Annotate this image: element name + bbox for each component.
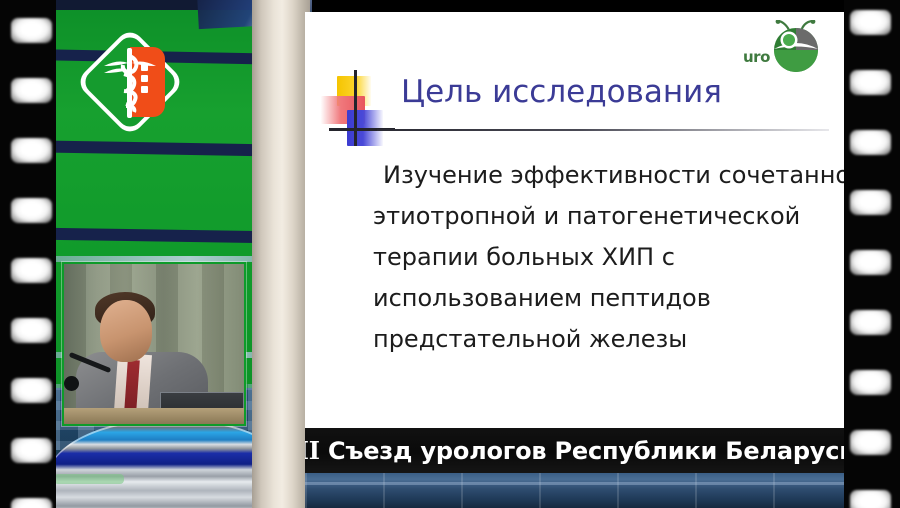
filmstrip-right [844,0,900,508]
film-sprocket-hole [11,438,52,463]
title-underline [377,129,829,131]
uro-logo: uro [743,20,829,78]
body-line: терапии больных ХИП с [373,237,843,278]
podium-surface [64,408,244,424]
film-sprocket-hole [850,10,891,35]
slide-bottom-strip [305,473,847,508]
film-sprocket-hole [850,430,891,455]
filmstrip-left [0,0,56,508]
body-line: этиотропной и патогенетической [373,196,843,237]
film-sprocket-hole [850,130,891,155]
film-sprocket-hole [11,18,52,43]
body-line: предстательной железы [373,319,843,360]
event-banner-numeral: II [305,436,320,465]
body-line: Изучение эффективности сочетанной [373,155,843,196]
presentation-slide: uro Цель исследования Изучение эффективн… [305,12,847,508]
uro-logo-text: uro [743,48,770,66]
decorative-squares-motif [321,70,395,146]
film-sprocket-hole [11,258,52,283]
film-sprocket-hole [11,318,52,343]
motif-vertical-line [354,70,357,146]
speaker-face [100,300,152,362]
studio-column [252,0,310,508]
body-line: использованием пептидов [373,278,843,319]
film-sprocket-hole [11,78,52,103]
film-sprocket-hole [11,198,52,223]
film-sprocket-hole [850,490,891,508]
film-sprocket-hole [850,70,891,95]
film-sprocket-hole [850,250,891,275]
film-sprocket-hole [850,310,891,335]
event-banner-text: II Съезд урологов Республики Беларусь [305,436,847,465]
microphone-head [64,376,79,391]
caduceus-diamond-emblem [74,26,186,138]
film-sprocket-hole [850,370,891,395]
speaker-video-inset [62,262,246,426]
event-banner-label: Съезд урологов Республики Беларусь [320,437,847,465]
slide-title: Цель исследования [401,74,722,110]
film-sprocket-hole [11,498,52,508]
slide-body-text: Изучение эффективности сочетанной этиотр… [373,155,843,360]
event-banner: II Съезд урологов Республики Беларусь [305,428,847,473]
film-sprocket-hole [850,190,891,215]
video-frame: uro Цель исследования Изучение эффективн… [0,0,900,508]
film-sprocket-hole [11,378,52,403]
film-sprocket-hole [11,138,52,163]
